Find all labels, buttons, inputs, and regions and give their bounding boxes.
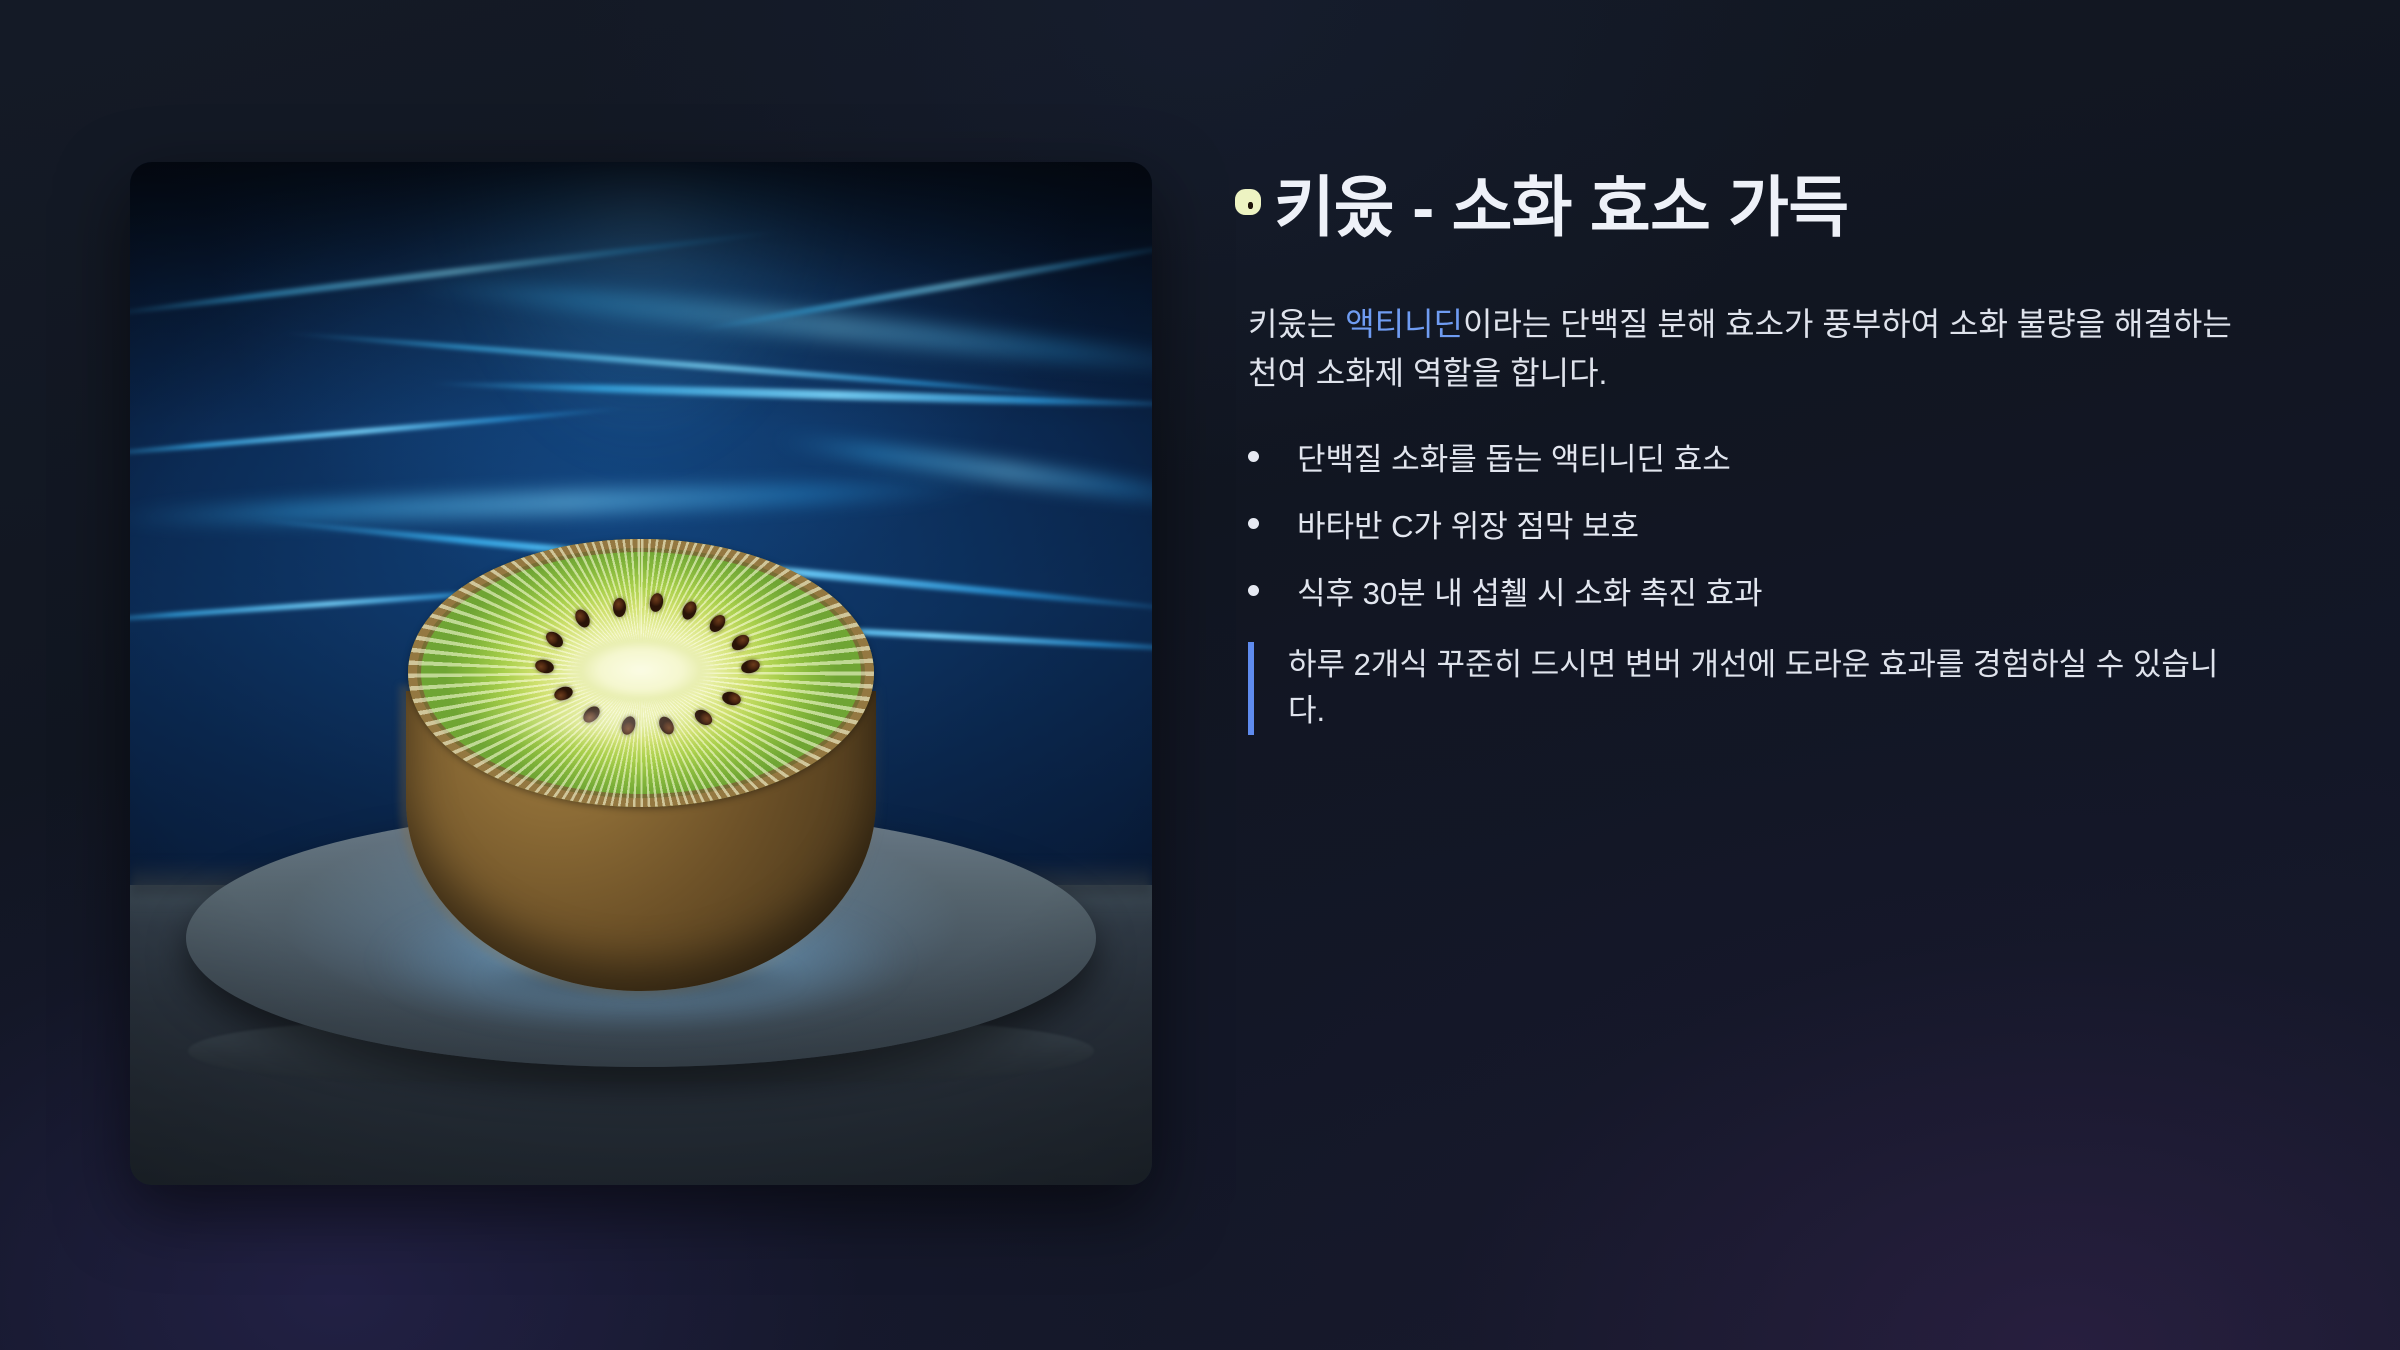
list-item: 식후 30분 내 섭췔 시 소화 촉진 효과 bbox=[1248, 575, 2248, 614]
list-item-label: 단백질 소화를 돕는 액티니딘 효소 bbox=[1297, 441, 1731, 480]
list-item-label: 식후 30분 내 섭췔 시 소화 촉진 효과 bbox=[1297, 575, 1763, 614]
callout-block: 하루 2개식 꾸준히 드시면 변버 개선에 도라운 효과를 경험하실 수 있습니… bbox=[1248, 642, 2238, 735]
list-item: 단백질 소화를 돕는 액티니딘 효소 bbox=[1248, 441, 2248, 480]
lead-highlight-term: 액티니딘 bbox=[1345, 306, 1463, 342]
list-item: 바타반 C가 위장 점막 보호 bbox=[1248, 508, 2248, 547]
list-item-label: 바타반 C가 위장 점막 보호 bbox=[1297, 508, 1639, 547]
bullet-dot-icon bbox=[1248, 518, 1259, 529]
benefit-list: 단백질 소화를 돕는 액티니딘 효소 바타반 C가 위장 점막 보호 식후 30… bbox=[1248, 441, 2248, 613]
bullet-dot-icon bbox=[1248, 451, 1259, 462]
lead-paragraph: 키웄는 액티니딘이라는 단백질 분해 효소가 풍부하여 소화 불량을 해결하는 … bbox=[1248, 300, 2238, 397]
bullet-dot-icon bbox=[1248, 585, 1259, 596]
kiwi-photo bbox=[130, 162, 1152, 1185]
content-column: 키웄 - 소화 효소 가득 키웄는 액티니딘이라는 단백질 분해 효소가 풍부하… bbox=[1248, 150, 2248, 735]
page-title-text: 키웄 - 소화 효소 가득 bbox=[1274, 154, 1849, 250]
slide-canvas: 키웄 - 소화 효소 가득 키웄는 액티니딘이라는 단백질 분해 효소가 풍부하… bbox=[0, 0, 2400, 1350]
page-title: 키웄 - 소화 효소 가득 bbox=[1248, 150, 2248, 254]
lead-before: 키웄는 bbox=[1248, 306, 1345, 342]
photo-vignette bbox=[130, 162, 1152, 1185]
callout-text: 하루 2개식 꾸준히 드시면 변버 개선에 도라운 효과를 경험하실 수 있습니… bbox=[1288, 642, 2238, 735]
